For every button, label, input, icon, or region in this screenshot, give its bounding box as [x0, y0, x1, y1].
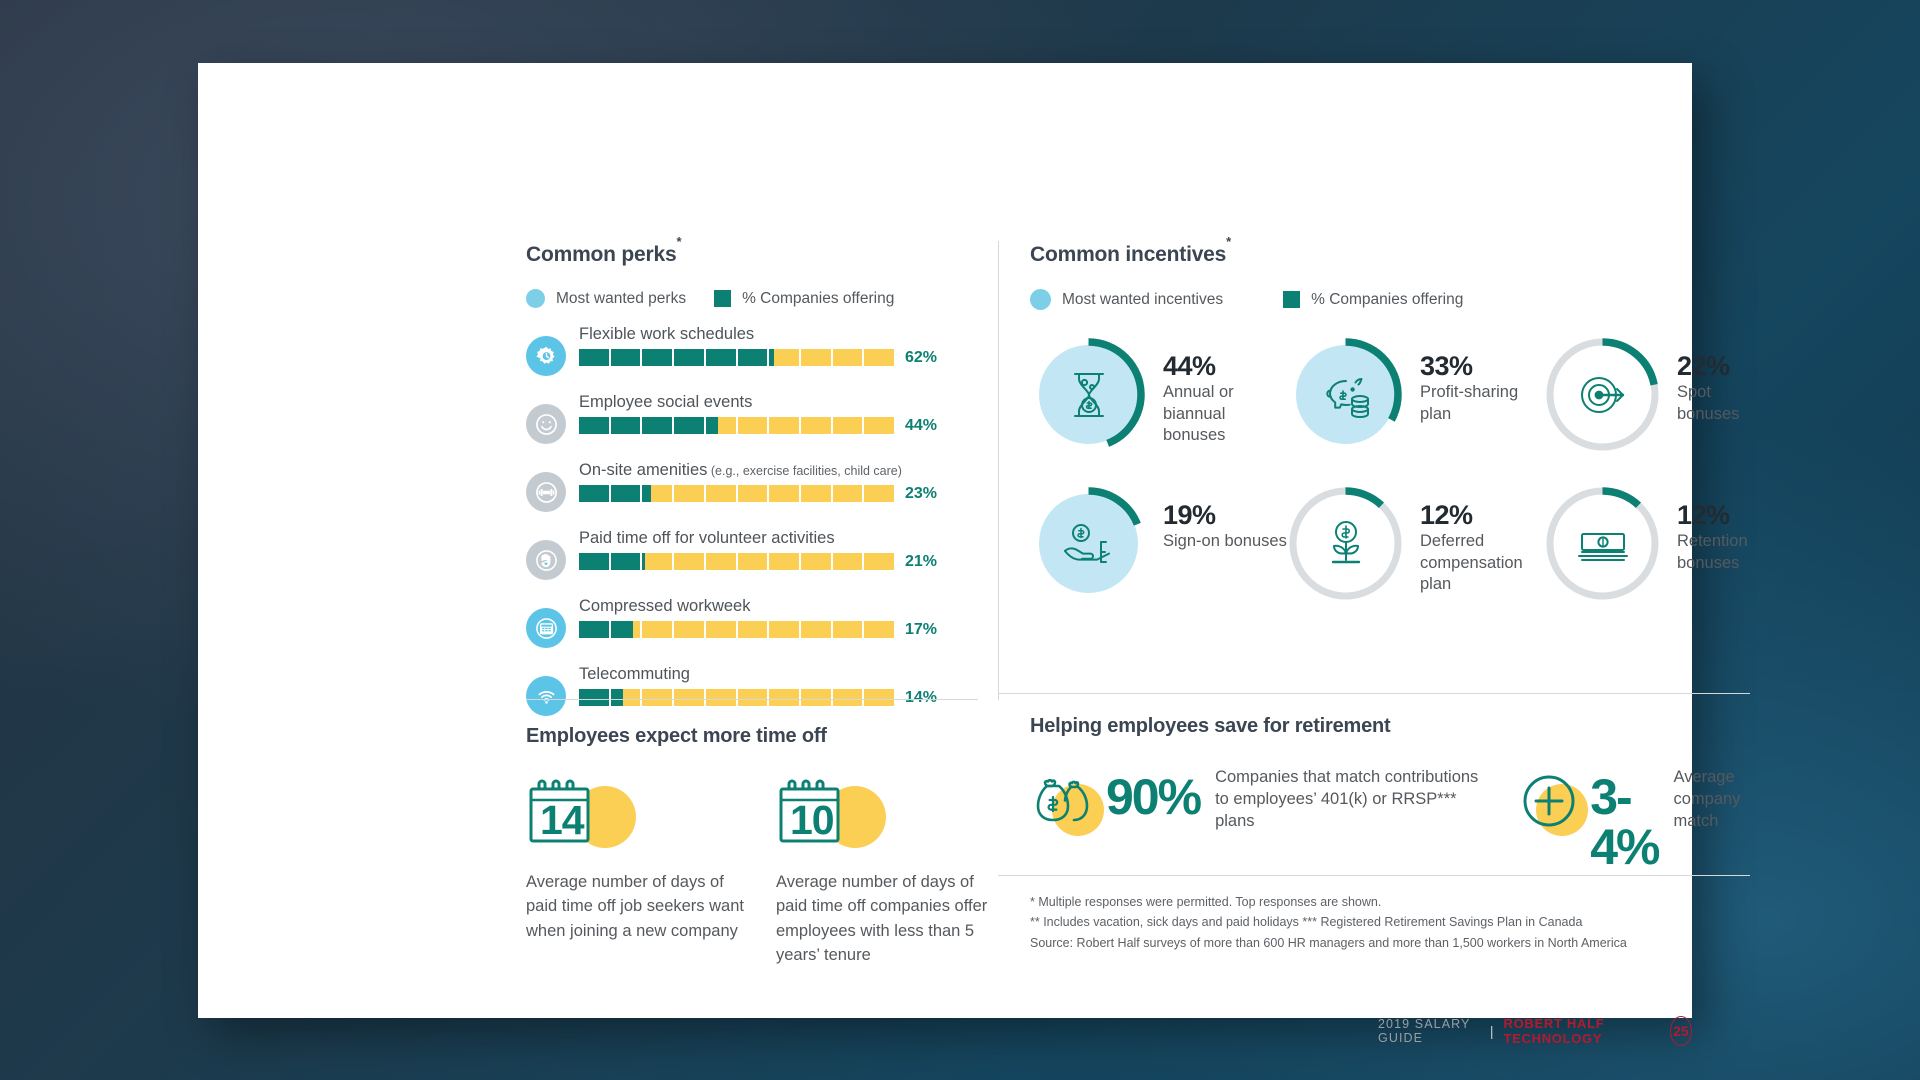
- perk-row: Telecommuting14%: [526, 665, 984, 716]
- incentives-donut-grid: 44% Annual or biannual bonuses 33%: [1030, 336, 1750, 602]
- perk-bar-segment: [642, 417, 674, 434]
- perk-percent-label: 23%: [905, 485, 937, 503]
- common-perks-title-asterisk: *: [676, 234, 681, 249]
- perk-bar-segment: [769, 417, 801, 434]
- perk-bar-segment: [738, 621, 770, 638]
- perk-bar-segment: [706, 621, 738, 638]
- perk-bar-segment: [611, 485, 643, 502]
- perk-bar-segment: [738, 417, 770, 434]
- perk-bar-segment: [706, 349, 738, 366]
- legend-companies-offering-perks: % Companies offering: [714, 290, 894, 308]
- common-perks-title: Common perks*: [526, 241, 984, 267]
- perk-bar-segment: [706, 485, 738, 502]
- perk-percent-label: 44%: [905, 417, 937, 435]
- perk-bar-segment: [738, 485, 770, 502]
- retirement-art: [1030, 770, 1106, 840]
- incentive-card: 12% Retention bonuses: [1544, 485, 1750, 602]
- perk-body: Flexible work schedules62%: [579, 325, 984, 367]
- perk-label: Flexible work schedules: [579, 325, 984, 344]
- perk-row: Flexible work schedules62%: [526, 325, 984, 376]
- perk-bar-segment: [642, 553, 674, 570]
- perk-bar-segment: [611, 417, 643, 434]
- retirement-item: 3-4% Average company match: [1514, 764, 1750, 872]
- perk-bar-segment: [801, 349, 833, 366]
- perk-body: Paid time off for volunteer activities21…: [579, 529, 984, 571]
- legend-circle-icon: [1030, 289, 1051, 310]
- left-section-divider: [526, 699, 978, 700]
- right-section-divider: [998, 693, 1750, 694]
- perk-bar-segment: [579, 621, 611, 638]
- footnotes: * Multiple responses were permitted. Top…: [1030, 892, 1790, 953]
- retirement-item: 90% Companies that match contributions t…: [1030, 764, 1486, 872]
- perk-row: Compressed workweek17%: [526, 597, 984, 648]
- perk-bar-segment: [833, 485, 865, 502]
- perk-bar-segments: [579, 553, 894, 570]
- legend-companies-offering-label: % Companies offering: [1311, 291, 1463, 309]
- common-incentives-section: Common incentives* Most wanted incentive…: [1030, 241, 1750, 602]
- perk-bar-segment: [642, 621, 674, 638]
- perks-bar-chart: Flexible work schedules62% Employee soci…: [526, 325, 984, 716]
- perk-bar-segments: [579, 485, 894, 502]
- perk-bar-segment: [769, 689, 801, 706]
- time-off-art: 14: [526, 774, 746, 852]
- perk-bar-line: 62%: [579, 349, 984, 367]
- perk-percent-label: 62%: [905, 349, 937, 367]
- incentive-description: Spot bonuses: [1677, 382, 1750, 425]
- incentive-percent: 22%: [1677, 352, 1750, 380]
- perk-bar-segment: [674, 485, 706, 502]
- wifi-icon: [526, 676, 566, 716]
- perk-bar-segment: [864, 689, 894, 706]
- perk-bar-line: 23%: [579, 485, 984, 503]
- perk-bar-segment: [801, 689, 833, 706]
- perk-label: Compressed workweek: [579, 597, 984, 616]
- legend-most-wanted-incentives-label: Most wanted incentives: [1062, 291, 1223, 309]
- incentive-text: 19% Sign-on bonuses: [1163, 485, 1287, 553]
- time-off-number: 14: [540, 800, 584, 841]
- hand-coin-icon: [1030, 485, 1147, 602]
- incentive-text: 22% Spot bonuses: [1677, 336, 1750, 425]
- perk-bar-segments: [579, 621, 894, 638]
- perk-bar-segments: [579, 689, 894, 706]
- page-footer: 2019 SALARY GUIDE | ROBERT HALF TECHNOLO…: [1378, 1016, 1692, 1046]
- perk-bar-segment: [706, 689, 738, 706]
- incentive-description: Profit-sharing plan: [1420, 382, 1544, 425]
- perk-bar-segment: [642, 485, 674, 502]
- perk-bar-segment: [864, 417, 894, 434]
- incentive-percent: 12%: [1420, 501, 1544, 529]
- incentive-card: 33% Profit-sharing plan: [1287, 336, 1544, 453]
- perk-bar-segment: [833, 621, 865, 638]
- footer-separator: |: [1490, 1023, 1494, 1039]
- perk-bar-segment: [611, 553, 643, 570]
- perk-bar-segment: [833, 689, 865, 706]
- time-off-description: Average number of days of paid time off …: [776, 870, 996, 967]
- legend-square-icon: [1283, 291, 1300, 308]
- perk-bar-segment: [738, 553, 770, 570]
- perk-bar-segment: [674, 621, 706, 638]
- incentive-percent: 12%: [1677, 501, 1750, 529]
- perk-bar-segments: [579, 417, 894, 434]
- perk-bar-track: [579, 349, 894, 366]
- perk-bar-segment: [611, 621, 643, 638]
- perk-bar-track: [579, 553, 894, 570]
- perk-bar-segment: [801, 417, 833, 434]
- perk-bar-segment: [769, 349, 801, 366]
- perk-body: On-site amenities (e.g., exercise facili…: [579, 461, 984, 503]
- perk-bar-segment: [864, 621, 894, 638]
- footer-brand-label: ROBERT HALF TECHNOLOGY: [1504, 1016, 1650, 1046]
- incentive-donut-chart: [1030, 485, 1147, 602]
- time-off-cards: 14 Average number of days of paid time o…: [526, 774, 996, 967]
- incentive-text: 12% Deferred compensation plan: [1420, 485, 1544, 596]
- perk-body: Employee social events44%: [579, 393, 984, 435]
- retirement-spacer: [1486, 764, 1514, 872]
- perk-bar-segment: [738, 349, 770, 366]
- perk-row: On-site amenities (e.g., exercise facili…: [526, 461, 984, 512]
- footnote-divider: [998, 875, 1750, 876]
- perk-percent-label: 21%: [905, 553, 937, 571]
- perk-bar-segment: [579, 485, 611, 502]
- perk-bar-track: [579, 417, 894, 434]
- perk-bar-line: 44%: [579, 417, 984, 435]
- legend-companies-offering-incentives: % Companies offering: [1283, 291, 1463, 309]
- perk-label-note: (e.g., exercise facilities, child care): [707, 464, 902, 478]
- perk-body: Compressed workweek17%: [579, 597, 984, 639]
- perk-bar-segment: [864, 485, 894, 502]
- perk-bar-segments: [579, 349, 894, 366]
- incentive-text: 33% Profit-sharing plan: [1420, 336, 1544, 425]
- legend-companies-offering-label: % Companies offering: [742, 290, 894, 308]
- perk-bar-segment: [706, 417, 738, 434]
- perk-bar-segment: [833, 553, 865, 570]
- incentive-donut-chart: [1287, 485, 1404, 602]
- vertical-divider: [998, 241, 999, 700]
- time-off-art: 10: [776, 774, 996, 852]
- perk-percent-label: 14%: [905, 689, 937, 707]
- perk-label: Paid time off for volunteer activities: [579, 529, 984, 548]
- legend-square-icon: [714, 290, 731, 307]
- perk-bar-segment: [801, 553, 833, 570]
- retirement-value: 90%: [1106, 772, 1200, 822]
- time-off-card: 14 Average number of days of paid time o…: [526, 774, 746, 967]
- legend-circle-icon: [526, 289, 545, 308]
- footnote-line-1: * Multiple responses were permitted. Top…: [1030, 892, 1790, 912]
- incentive-description: Annual or biannual bonuses: [1163, 382, 1287, 446]
- perk-bar-track: [579, 689, 894, 706]
- common-incentives-title-asterisk: *: [1226, 234, 1231, 249]
- perk-bar-segment: [674, 417, 706, 434]
- target-arrow-icon: [1544, 336, 1661, 453]
- perk-bar-segment: [864, 349, 894, 366]
- time-off-number: 10: [790, 800, 834, 841]
- perk-bar-segment: [579, 553, 611, 570]
- incentive-donut-chart: [1544, 336, 1661, 453]
- perk-bar-segment: [674, 689, 706, 706]
- common-perks-title-text: Common perks: [526, 243, 676, 266]
- time-off-section: Employees expect more time off 14 Averag…: [526, 725, 996, 967]
- page-number-badge: 25: [1670, 1016, 1692, 1046]
- incentive-percent: 33%: [1420, 352, 1544, 380]
- perk-label: Employee social events: [579, 393, 984, 412]
- incentive-card: 44% Annual or biannual bonuses: [1030, 336, 1287, 453]
- incentive-description: Sign-on bonuses: [1163, 531, 1287, 552]
- retirement-description: Companies that match contributions to em…: [1215, 767, 1486, 832]
- retirement-art: [1514, 770, 1590, 840]
- smiley-icon: [526, 404, 566, 444]
- incentive-description: Deferred compensation plan: [1420, 531, 1544, 595]
- perk-bar-segment: [833, 417, 865, 434]
- perk-bar-segment: [611, 689, 643, 706]
- retirement-section: Helping employees save for retirement 90…: [1030, 715, 1750, 872]
- incentive-donut-chart: [1287, 336, 1404, 453]
- time-off-card: 10 Average number of days of paid time o…: [776, 774, 996, 967]
- common-incentives-title: Common incentives*: [1030, 241, 1750, 267]
- incentive-card: 12% Deferred compensation plan: [1287, 485, 1544, 602]
- retirement-title: Helping employees save for retirement: [1030, 715, 1750, 738]
- perk-bar-segment: [706, 553, 738, 570]
- incentive-donut-chart: [1030, 336, 1147, 453]
- perk-bar-segment: [769, 553, 801, 570]
- perk-bar-segment: [674, 553, 706, 570]
- legend-most-wanted-incentives: Most wanted incentives: [1030, 289, 1223, 310]
- footer-guide-label: 2019 SALARY GUIDE: [1378, 1017, 1480, 1045]
- perk-body: Telecommuting14%: [579, 665, 984, 707]
- incentive-text: 44% Annual or biannual bonuses: [1163, 336, 1287, 447]
- perk-bar-segment: [642, 689, 674, 706]
- perk-bar-line: 17%: [579, 621, 984, 639]
- hand-heart-icon: [526, 540, 566, 580]
- retirement-value: 3-4%: [1590, 772, 1658, 872]
- perk-bar-track: [579, 621, 894, 638]
- piggy-bank-coins-icon: [1287, 336, 1404, 453]
- perk-bar-segment: [769, 621, 801, 638]
- calendar-icon: [526, 608, 566, 648]
- dumbbell-icon: [526, 472, 566, 512]
- perk-label: Telecommuting: [579, 665, 984, 684]
- time-off-description: Average number of days of paid time off …: [526, 870, 746, 943]
- incentive-card: 22% Spot bonuses: [1544, 336, 1750, 453]
- perk-bar-segment: [642, 349, 674, 366]
- perk-row: Paid time off for volunteer activities21…: [526, 529, 984, 580]
- hourglass-money-icon: [1030, 336, 1147, 453]
- perk-bar-segment: [801, 621, 833, 638]
- incentives-legend: Most wanted incentives % Companies offer…: [1030, 289, 1750, 310]
- perk-bar-line: 21%: [579, 553, 984, 571]
- perk-bar-segment: [579, 349, 611, 366]
- incentive-description: Retention bonuses: [1677, 531, 1750, 574]
- retirement-items: 90% Companies that match contributions t…: [1030, 764, 1750, 872]
- money-plant-icon: [1287, 485, 1404, 602]
- incentive-percent: 19%: [1163, 501, 1287, 529]
- incentive-text: 12% Retention bonuses: [1677, 485, 1750, 574]
- cash-stack-icon: [1544, 485, 1661, 602]
- salary-guide-page: Common perks* Most wanted perks % Compan…: [198, 63, 1692, 1018]
- perk-percent-label: 17%: [905, 621, 937, 639]
- incentive-donut-chart: [1544, 485, 1661, 602]
- perk-bar-segment: [611, 349, 643, 366]
- incentive-card: 19% Sign-on bonuses: [1030, 485, 1287, 602]
- perk-row: Employee social events44%: [526, 393, 984, 444]
- incentive-percent: 44%: [1163, 352, 1287, 380]
- gear-clock-icon: [526, 336, 566, 376]
- perk-bar-segment: [801, 485, 833, 502]
- perk-bar-segment: [579, 417, 611, 434]
- perks-legend: Most wanted perks % Companies offering: [526, 289, 984, 308]
- perk-bar-line: 14%: [579, 689, 984, 707]
- legend-most-wanted-perks-label: Most wanted perks: [556, 290, 686, 308]
- perk-bar-segment: [579, 689, 611, 706]
- perk-bar-segment: [864, 553, 894, 570]
- perk-bar-track: [579, 485, 894, 502]
- time-off-title: Employees expect more time off: [526, 725, 996, 748]
- retirement-description: Average company match: [1673, 767, 1750, 832]
- common-incentives-title-text: Common incentives: [1030, 243, 1226, 266]
- perk-bar-segment: [674, 349, 706, 366]
- perk-bar-segment: [738, 689, 770, 706]
- legend-most-wanted-perks: Most wanted perks: [526, 289, 686, 308]
- perk-bar-segment: [769, 485, 801, 502]
- perk-bar-segment: [833, 349, 865, 366]
- footnote-line-2: ** Includes vacation, sick days and paid…: [1030, 912, 1790, 932]
- footnote-line-3: Source: Robert Half surveys of more than…: [1030, 933, 1790, 953]
- common-perks-section: Common perks* Most wanted perks % Compan…: [526, 241, 984, 716]
- perk-label: On-site amenities (e.g., exercise facili…: [579, 461, 984, 480]
